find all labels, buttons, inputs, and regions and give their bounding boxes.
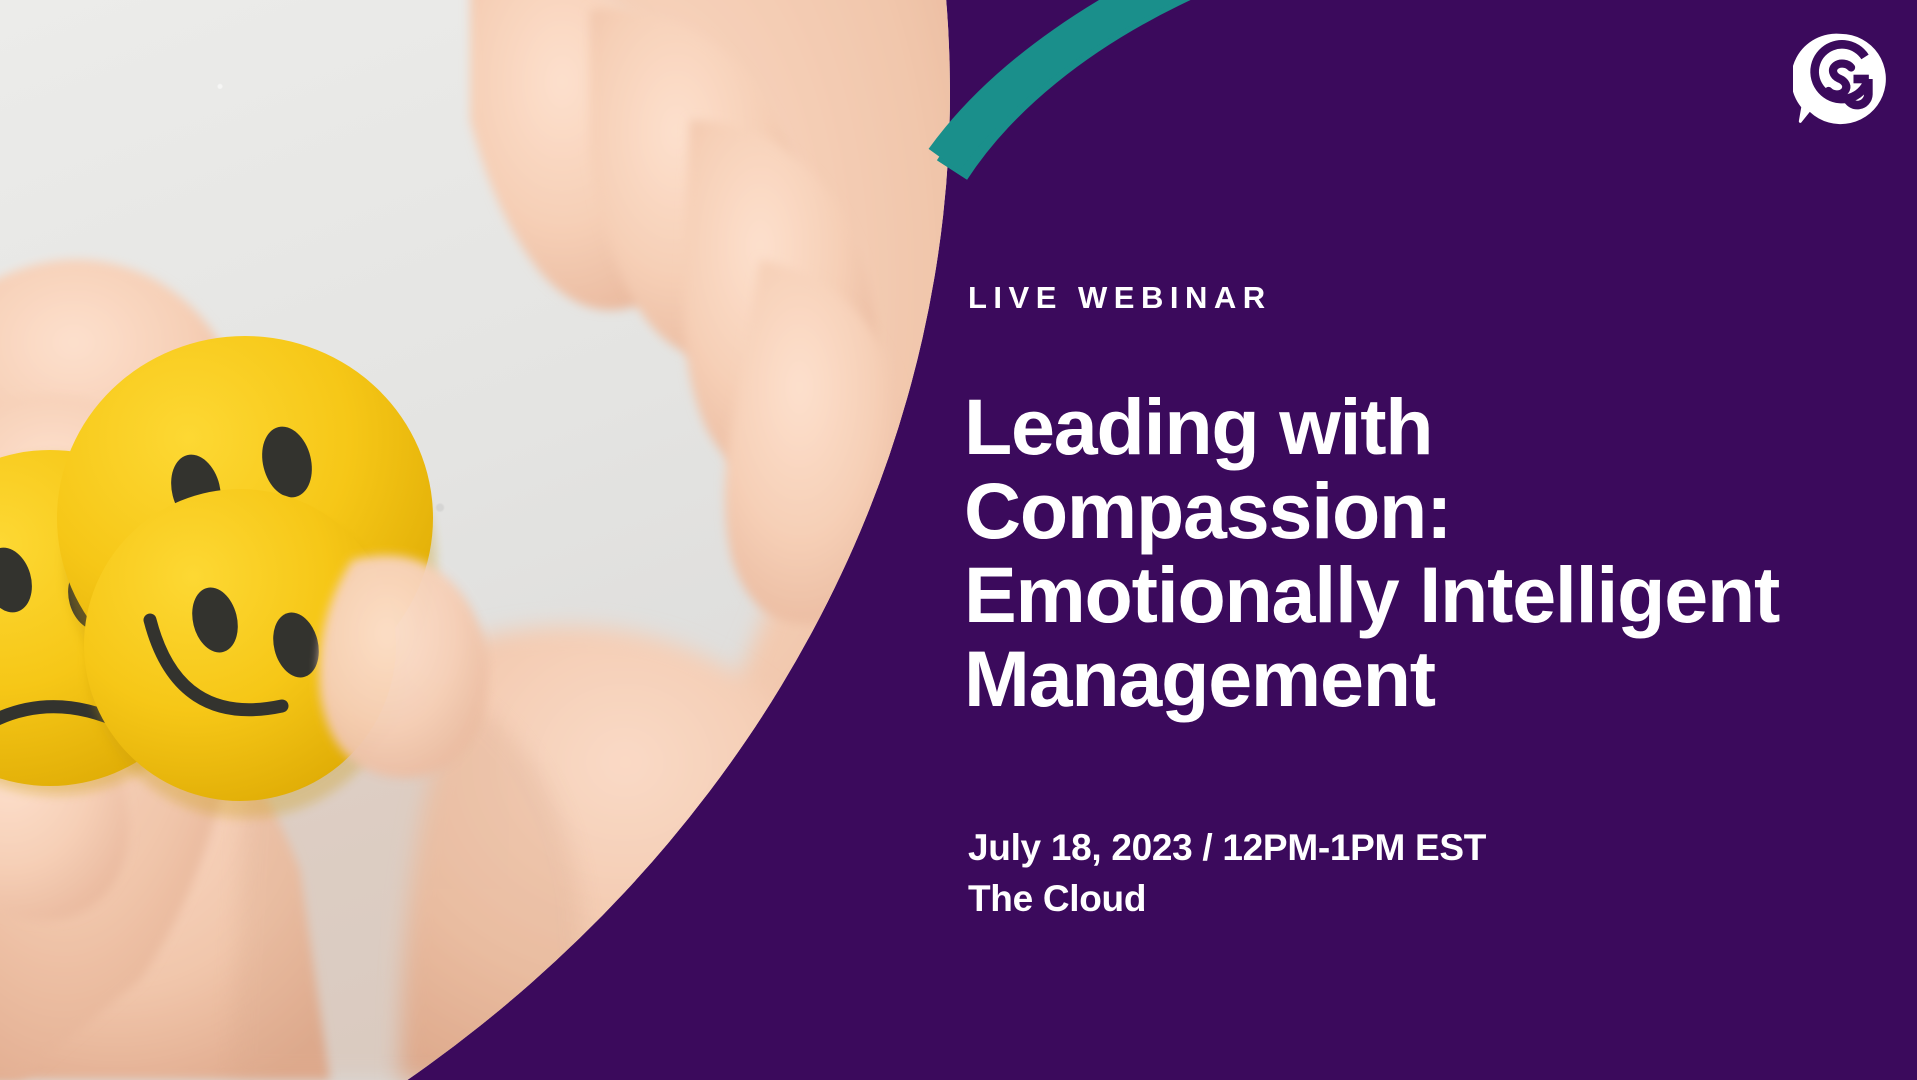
event-datetime: July 18, 2023 / 12PM-1PM EST: [968, 822, 1486, 873]
headline-line-3: Emotionally Intelligent: [964, 553, 1824, 637]
content-column: LIVE WEBINAR Leading with Compassion: Em…: [968, 0, 1868, 1080]
headline-line-2: Compassion:: [964, 469, 1824, 553]
headline-line-4: Management: [964, 637, 1824, 721]
page-title: Leading with Compassion: Emotionally Int…: [964, 385, 1824, 721]
eyebrow-live-webinar: LIVE WEBINAR: [968, 282, 1272, 313]
event-details: July 18, 2023 / 12PM-1PM EST The Cloud: [968, 822, 1486, 924]
event-location: The Cloud: [968, 873, 1486, 924]
sj-logo[interactable]: [1793, 31, 1889, 127]
webinar-promo-banner: LIVE WEBINAR Leading with Compassion: Em…: [0, 0, 1917, 1080]
headline-line-1: Leading with: [964, 385, 1824, 469]
sj-speech-bubble-icon: [1793, 31, 1889, 127]
